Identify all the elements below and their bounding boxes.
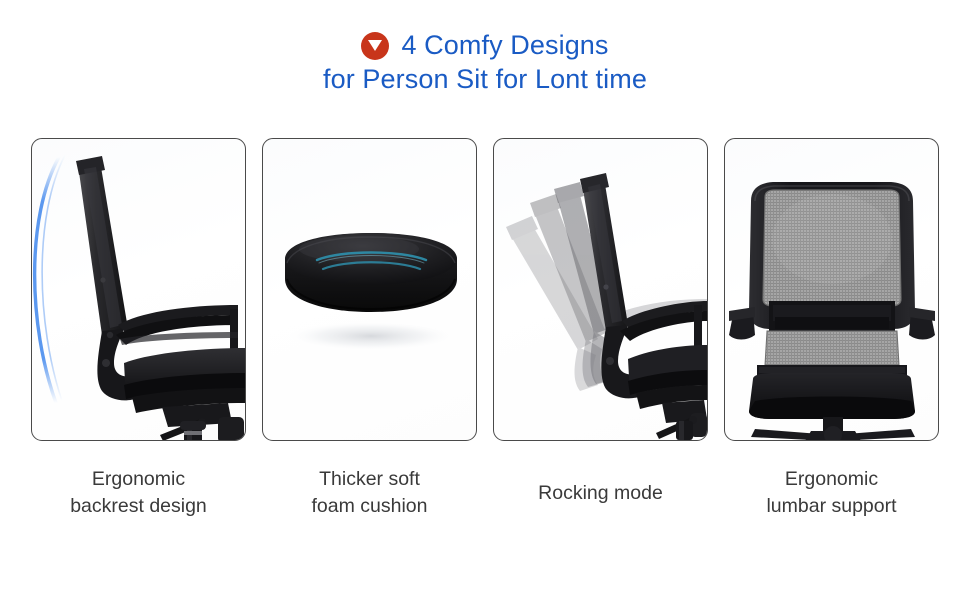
page-title: 4 Comfy Designs for Person Sit for Lont … <box>0 28 970 96</box>
caption-rocking-mode: Rocking mode <box>493 466 708 546</box>
caption-line-2: foam cushion <box>262 493 477 520</box>
caption-line-1: Ergonomic <box>31 466 246 493</box>
black-foam-seat-cushion-image <box>263 139 476 440</box>
panel-foam-cushion <box>262 138 477 441</box>
caption-lumbar-support: Ergonomic lumbar support <box>724 466 939 546</box>
panel-ergonomic-backrest <box>31 138 246 441</box>
panel-rocking-mode <box>493 138 708 441</box>
feature-caption-row: Ergonomic backrest design Thicker soft f… <box>31 466 939 546</box>
feature-panel-row <box>31 138 939 441</box>
caption-line-1: Rocking mode <box>493 480 708 507</box>
title-line-2-text: for Person Sit for Lont time <box>0 62 970 96</box>
caption-ergonomic-backrest: Ergonomic backrest design <box>31 466 246 546</box>
title-line-1-text: 4 Comfy Designs <box>401 28 608 62</box>
title-line-1: 4 Comfy Designs <box>0 28 970 62</box>
office-chair-side-view-with-blue-curve-image <box>32 139 245 440</box>
caption-line-1: Thicker soft <box>262 466 477 493</box>
office-chair-rear-view-mesh-back-image <box>725 139 938 440</box>
red-circle-down-triangle-icon <box>361 32 389 60</box>
caption-line-1: Ergonomic <box>724 466 939 493</box>
caption-line-2: backrest design <box>31 493 246 520</box>
panel-lumbar-support <box>724 138 939 441</box>
caption-foam-cushion: Thicker soft foam cushion <box>262 466 477 546</box>
office-chair-reclining-ghost-backrests-image <box>494 139 707 440</box>
caption-line-2: lumbar support <box>724 493 939 520</box>
